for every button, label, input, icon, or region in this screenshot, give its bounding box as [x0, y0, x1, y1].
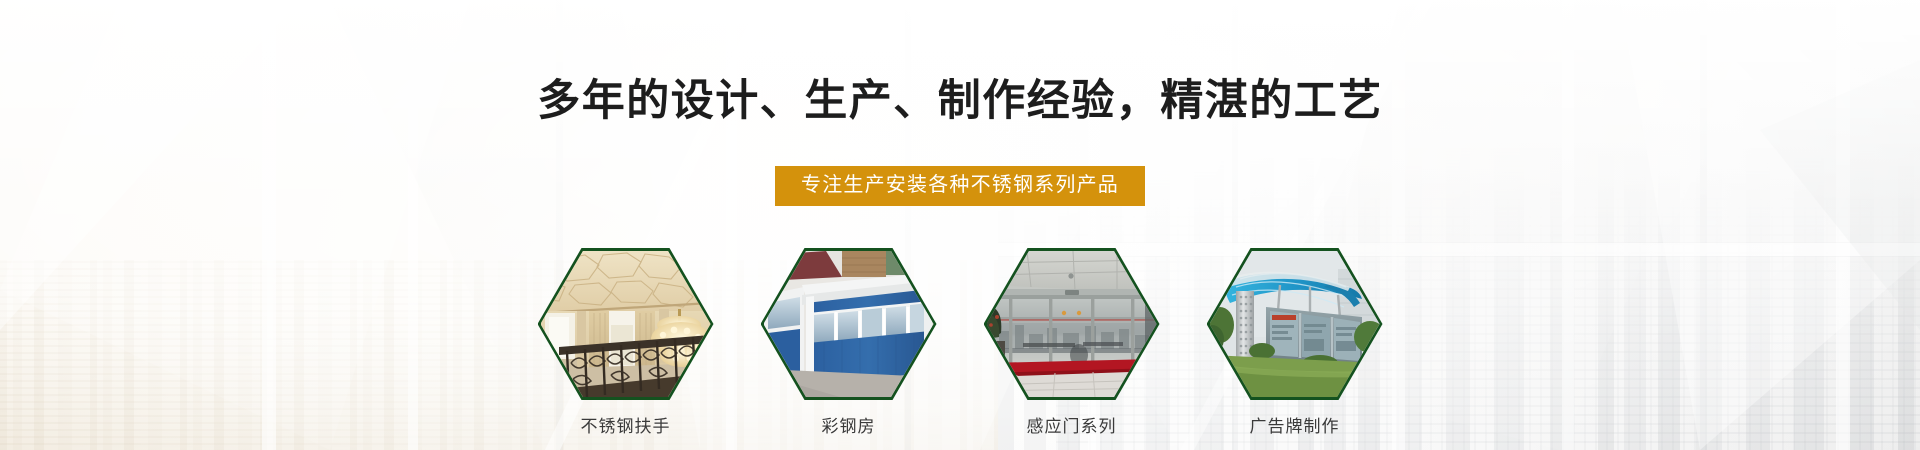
product-label: 广告牌制作 [1250, 412, 1340, 437]
product-item-stainless-steel-handrail[interactable]: 不锈钢扶手 [538, 248, 714, 437]
product-label: 彩钢房 [822, 412, 876, 437]
hexagon-frame [761, 248, 937, 400]
automatic-sensor-door-photo [987, 251, 1157, 397]
product-label: 不锈钢扶手 [581, 412, 671, 437]
billboard-signage-photo [1210, 251, 1380, 397]
banner-headline: 多年的设计、生产、制作经验，精湛的工艺 [0, 78, 1920, 125]
banner-subtitle-badge-wrapper: 专注生产安装各种不锈钢系列产品 [0, 166, 1920, 206]
color-steel-booth-photo [764, 251, 934, 397]
hexagon-frame [1207, 248, 1383, 400]
promo-banner: 多年的设计、生产、制作经验，精湛的工艺 专注生产安装各种不锈钢系列产品 [0, 0, 1920, 450]
product-item-billboard-signage[interactable]: 广告牌制作 [1207, 248, 1383, 437]
product-hexagon-row: 不锈钢扶手 [0, 248, 1920, 437]
stainless-steel-handrail-photo [541, 251, 711, 397]
product-label: 感应门系列 [1027, 412, 1117, 437]
banner-subtitle-badge: 专注生产安装各种不锈钢系列产品 [775, 166, 1145, 206]
product-item-automatic-sensor-door[interactable]: 感应门系列 [984, 248, 1160, 437]
hexagon-frame [984, 248, 1160, 400]
product-item-color-steel-booth[interactable]: 彩钢房 [761, 248, 937, 437]
hexagon-frame [538, 248, 714, 400]
banner-content: 多年的设计、生产、制作经验，精湛的工艺 专注生产安装各种不锈钢系列产品 [0, 0, 1920, 450]
